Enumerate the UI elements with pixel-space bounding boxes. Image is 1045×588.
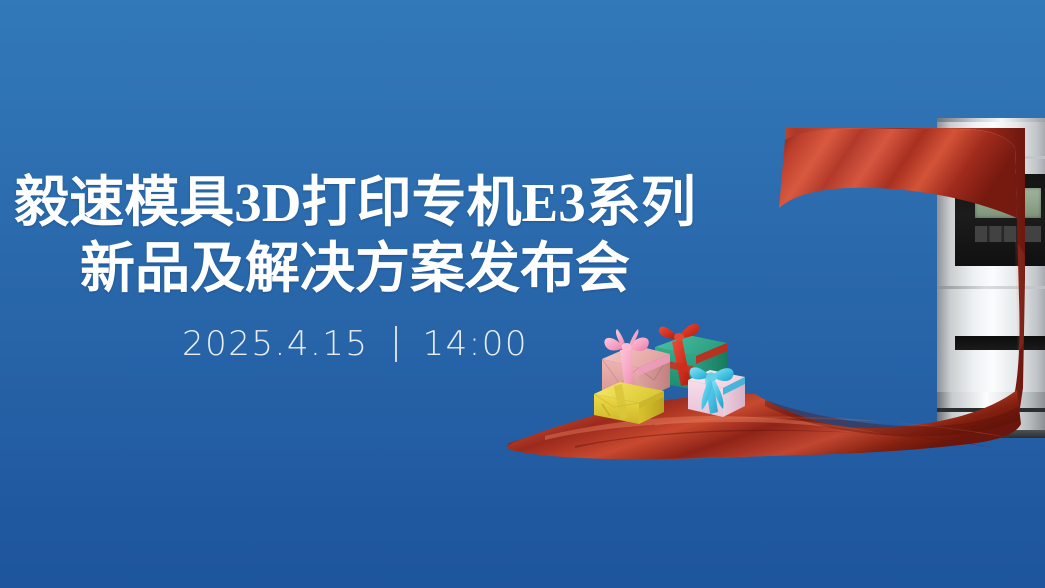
event-banner: 毅速模具3D打印专机E3系列 新品及解决方案发布会 2025.4.15 14:0… bbox=[0, 0, 1045, 588]
event-datetime: 2025.4.15 14:00 bbox=[0, 324, 710, 364]
headline-line-1: 毅速模具3D打印专机E3系列 bbox=[0, 170, 710, 236]
event-date: 2025.4.15 bbox=[182, 324, 369, 364]
lightpink-gift-box bbox=[688, 367, 745, 417]
printer-top-seam bbox=[937, 118, 1045, 122]
headline-line-2: 新品及解决方案发布会 bbox=[0, 236, 710, 302]
datetime-separator bbox=[395, 326, 397, 362]
event-time: 14:00 bbox=[423, 324, 528, 364]
headline-block: 毅速模具3D打印专机E3系列 新品及解决方案发布会 2025.4.15 14:0… bbox=[0, 170, 710, 364]
